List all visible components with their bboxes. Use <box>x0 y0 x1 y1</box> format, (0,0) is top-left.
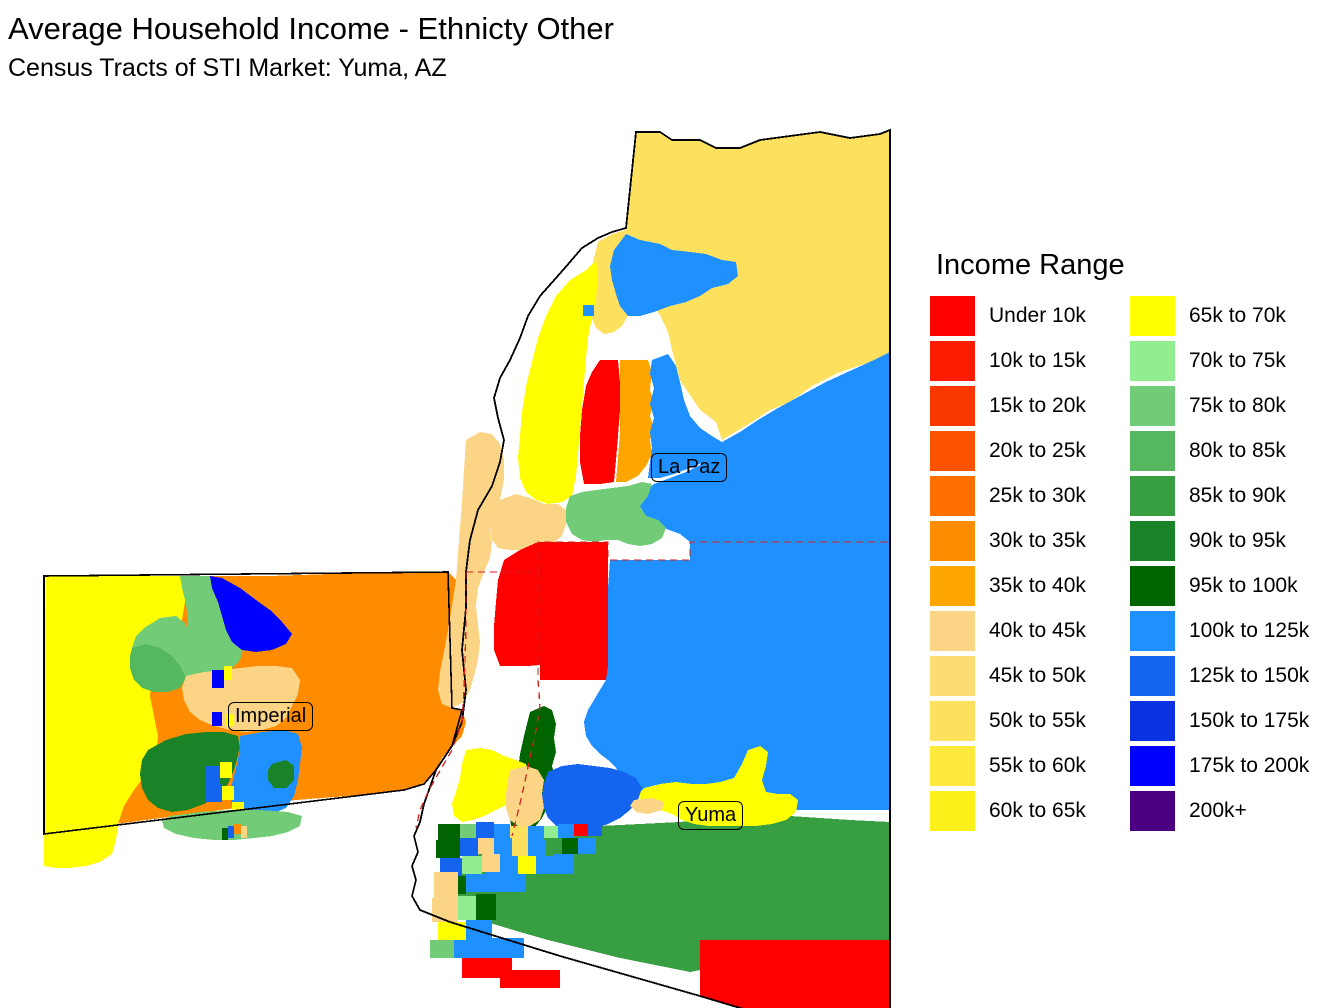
legend-label: 30k to 35k <box>989 529 1086 553</box>
legend-row[interactable]: 40k to 45k <box>930 611 1130 651</box>
legend-swatch <box>1130 701 1175 741</box>
legend-swatch <box>930 656 975 696</box>
legend-row[interactable]: 125k to 150k <box>1130 656 1344 696</box>
legend-label: 70k to 75k <box>1189 349 1286 373</box>
legend-swatch <box>1130 566 1175 606</box>
legend-row[interactable]: 60k to 65k <box>930 791 1130 831</box>
legend-row[interactable]: 25k to 30k <box>930 476 1130 516</box>
legend-swatch <box>1130 431 1175 471</box>
place-label-yuma[interactable]: Yuma <box>678 801 743 830</box>
place-label-la-paz[interactable]: La Paz <box>651 453 727 482</box>
legend-label: 95k to 100k <box>1189 574 1298 598</box>
legend-swatch <box>1130 386 1175 426</box>
legend-label: 45k to 50k <box>989 664 1086 688</box>
title-block: Average Household Income - Ethnicty Othe… <box>8 10 908 84</box>
page-title: Average Household Income - Ethnicty Othe… <box>8 10 908 48</box>
map-page: Average Household Income - Ethnicty Othe… <box>0 0 1344 1008</box>
legend-label: 40k to 45k <box>989 619 1086 643</box>
legend-swatch <box>930 566 975 606</box>
map-canvas[interactable]: La Paz Imperial Yuma <box>0 110 920 1008</box>
legend-label: 15k to 20k <box>989 394 1086 418</box>
legend-label: 50k to 55k <box>989 709 1086 733</box>
legend-swatch <box>930 431 975 471</box>
page-subtitle: Census Tracts of STI Market: Yuma, AZ <box>8 52 908 84</box>
legend-swatch <box>930 476 975 516</box>
legend-label: Under 10k <box>989 304 1086 328</box>
legend-swatch <box>1130 611 1175 651</box>
legend-swatch <box>930 521 975 561</box>
legend-row[interactable]: 175k to 200k <box>1130 746 1344 786</box>
legend-row[interactable]: 95k to 100k <box>1130 566 1344 606</box>
legend-swatch <box>1130 791 1175 831</box>
legend-row[interactable]: 50k to 55k <box>930 701 1130 741</box>
legend-label: 20k to 25k <box>989 439 1086 463</box>
legend-row[interactable]: 80k to 85k <box>1130 431 1344 471</box>
legend-row[interactable]: 200k+ <box>1130 791 1344 831</box>
legend-swatch <box>930 341 975 381</box>
legend-row[interactable]: 150k to 175k <box>1130 701 1344 741</box>
legend-row[interactable]: 20k to 25k <box>930 431 1130 471</box>
legend-column-left: Under 10k10k to 15k15k to 20k20k to 25k2… <box>930 296 1130 831</box>
legend-label: 55k to 60k <box>989 754 1086 778</box>
legend-label: 125k to 150k <box>1189 664 1309 688</box>
legend-row[interactable]: 90k to 95k <box>1130 521 1344 561</box>
legend-label: 75k to 80k <box>1189 394 1286 418</box>
legend-label: 90k to 95k <box>1189 529 1286 553</box>
legend-label: 200k+ <box>1189 799 1247 823</box>
legend-swatch <box>1130 746 1175 786</box>
legend-title: Income Range <box>936 248 1344 282</box>
legend-label: 10k to 15k <box>989 349 1086 373</box>
legend-row[interactable]: 10k to 15k <box>930 341 1130 381</box>
legend-row[interactable]: 75k to 80k <box>1130 386 1344 426</box>
legend-row[interactable]: 15k to 20k <box>930 386 1130 426</box>
legend-swatch <box>930 791 975 831</box>
legend-label: 80k to 85k <box>1189 439 1286 463</box>
legend-swatch <box>1130 341 1175 381</box>
legend-row[interactable]: 85k to 90k <box>1130 476 1344 516</box>
legend-swatch <box>930 701 975 741</box>
legend-label: 175k to 200k <box>1189 754 1309 778</box>
legend-label: 150k to 175k <box>1189 709 1309 733</box>
legend-row[interactable]: 35k to 40k <box>930 566 1130 606</box>
legend-row[interactable]: 70k to 75k <box>1130 341 1344 381</box>
legend-row[interactable]: 55k to 60k <box>930 746 1130 786</box>
legend-label: 35k to 40k <box>989 574 1086 598</box>
legend-row[interactable]: 30k to 35k <box>930 521 1130 561</box>
legend-row[interactable]: Under 10k <box>930 296 1130 336</box>
choropleth-map[interactable] <box>0 110 920 1008</box>
place-label-imperial[interactable]: Imperial <box>228 702 313 731</box>
legend-swatch <box>1130 296 1175 336</box>
legend-label: 60k to 65k <box>989 799 1086 823</box>
map-legend: Income Range Under 10k10k to 15k15k to 2… <box>930 248 1344 831</box>
legend-row[interactable]: 100k to 125k <box>1130 611 1344 651</box>
legend-row[interactable]: 65k to 70k <box>1130 296 1344 336</box>
legend-label: 85k to 90k <box>1189 484 1286 508</box>
legend-label: 100k to 125k <box>1189 619 1309 643</box>
legend-swatch <box>930 611 975 651</box>
legend-swatch <box>930 746 975 786</box>
legend-label: 25k to 30k <box>989 484 1086 508</box>
legend-label: 65k to 70k <box>1189 304 1286 328</box>
legend-column-right: 65k to 70k70k to 75k75k to 80k80k to 85k… <box>1130 296 1344 831</box>
legend-swatch <box>1130 656 1175 696</box>
legend-row[interactable]: 45k to 50k <box>930 656 1130 696</box>
legend-swatch <box>1130 476 1175 516</box>
legend-swatch <box>930 296 975 336</box>
legend-swatch <box>1130 521 1175 561</box>
legend-columns: Under 10k10k to 15k15k to 20k20k to 25k2… <box>930 296 1344 831</box>
region-la-paz <box>490 130 890 560</box>
legend-swatch <box>930 386 975 426</box>
